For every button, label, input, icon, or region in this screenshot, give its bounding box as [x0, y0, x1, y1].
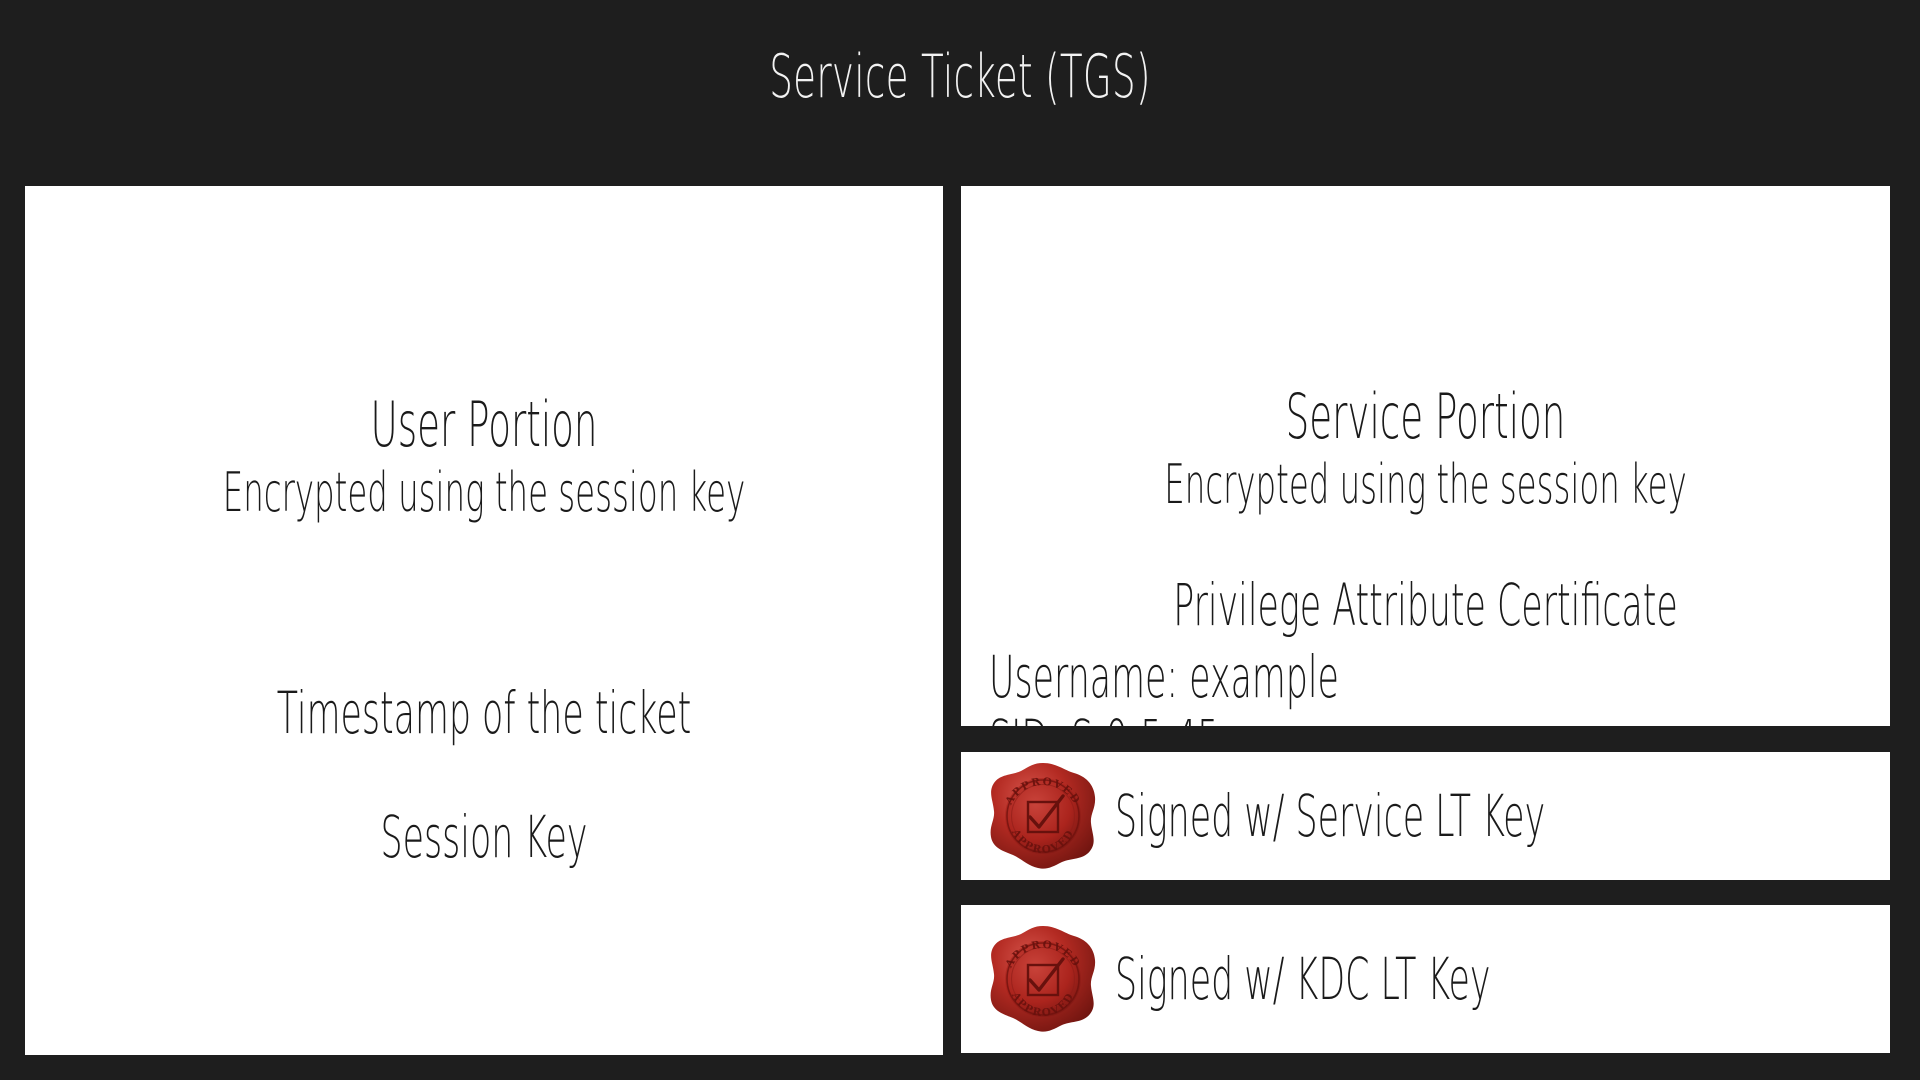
user-portion-panel: User Portion Encrypted using the session… — [25, 186, 943, 1055]
service-portion-panel: Service Portion Encrypted using the sess… — [961, 186, 1890, 726]
pac-sid-line: SID: S-0-5-45...... — [989, 712, 1286, 726]
signed-row-kdc-lt-key: APPROVED APPROVED Signed w/ KDC LT Key — [961, 905, 1890, 1053]
service-portion-heading: Service Portion — [1147, 386, 1704, 448]
signed-kdc-lt-key-label: Signed w/ KDC LT Key — [1115, 950, 1490, 1008]
wax-seal-approved-icon: APPROVED APPROVED — [977, 920, 1109, 1038]
pac-heading: Privilege Attribute Certificate — [1147, 576, 1704, 634]
pac-username-line: Username: example — [989, 648, 1339, 706]
signed-row-service-lt-key: APPROVED APPROVED Signed w/ Service LT K… — [961, 752, 1890, 880]
wax-seal-approved-icon: APPROVED APPROVED — [977, 757, 1109, 875]
page-title: Service Ticket (TGS) — [365, 44, 1555, 111]
user-portion-subheading: Encrypted using the session key — [209, 466, 760, 520]
user-portion-timestamp-line: Timestamp of the ticket — [209, 684, 760, 742]
user-portion-session-key-line: Session Key — [209, 808, 760, 866]
service-portion-subheading: Encrypted using the session key — [1147, 458, 1704, 512]
signed-service-lt-key-label: Signed w/ Service LT Key — [1115, 787, 1545, 845]
user-portion-heading: User Portion — [209, 394, 760, 456]
slide-canvas: Service Ticket (TGS) User Portion Encryp… — [0, 0, 1920, 1080]
